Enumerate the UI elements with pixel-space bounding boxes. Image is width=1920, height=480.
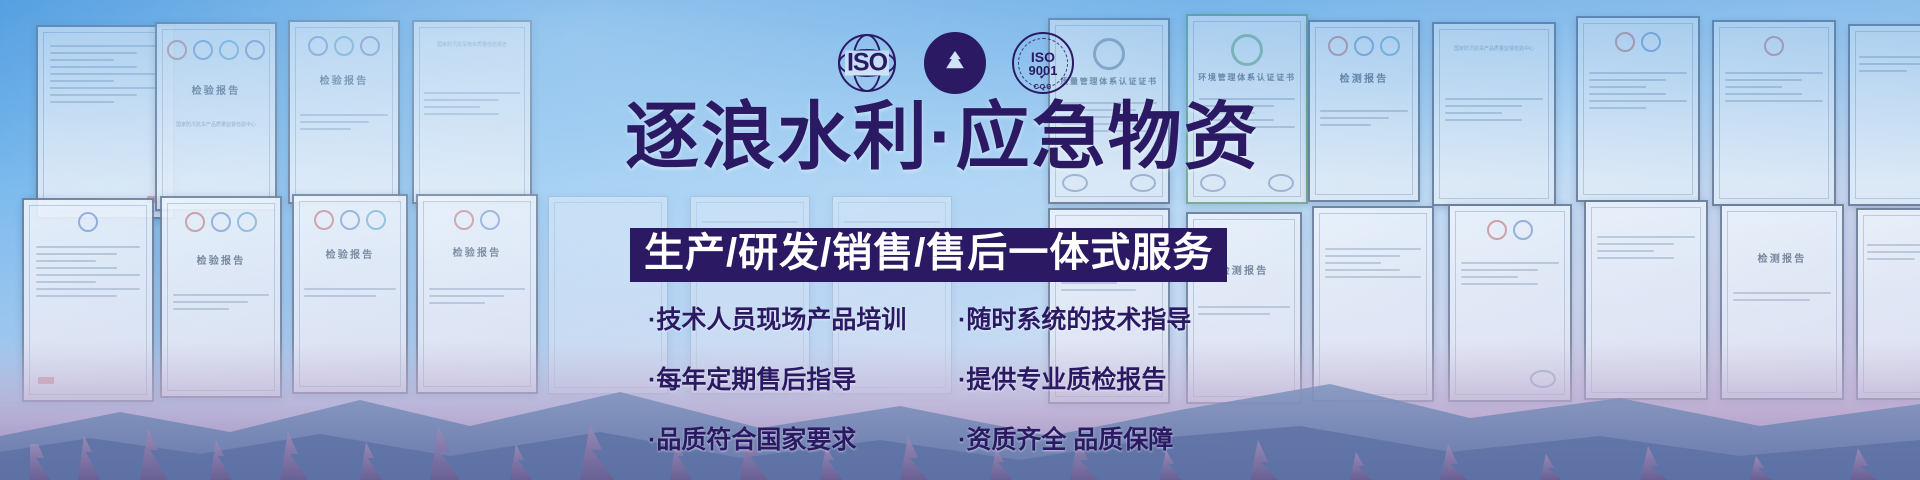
feature-item: ·技术人员现场产品培训 [648,300,958,336]
banner-title: 逐浪水利·应急物资 [625,100,1260,174]
feature-item: ·提供专业质检报告 [958,360,1268,396]
banner-subtitle-bar: 生产/研发/销售/售后一体式服务 [630,228,1227,282]
promo-banner: 检验报告 国家防汛抗旱产品质量监督检验中心 检验报告 国家防汛抗旱物资质量检验报… [0,0,1920,480]
feature-item: ·资质齐全 品质保障 [958,420,1268,456]
feature-item: ·随时系统的技术指导 [958,300,1268,336]
feature-list: ·技术人员现场产品培训 ·随时系统的技术指导 ·每年定期售后指导 ·提供专业质检… [648,300,1268,456]
banner-content: 逐浪水利·应急物资 生产/研发/销售/售后一体式服务 ·技术人员现场产品培训 ·… [0,0,1920,480]
feature-item: ·品质符合国家要求 [648,420,958,456]
feature-item: ·每年定期售后指导 [648,360,958,396]
